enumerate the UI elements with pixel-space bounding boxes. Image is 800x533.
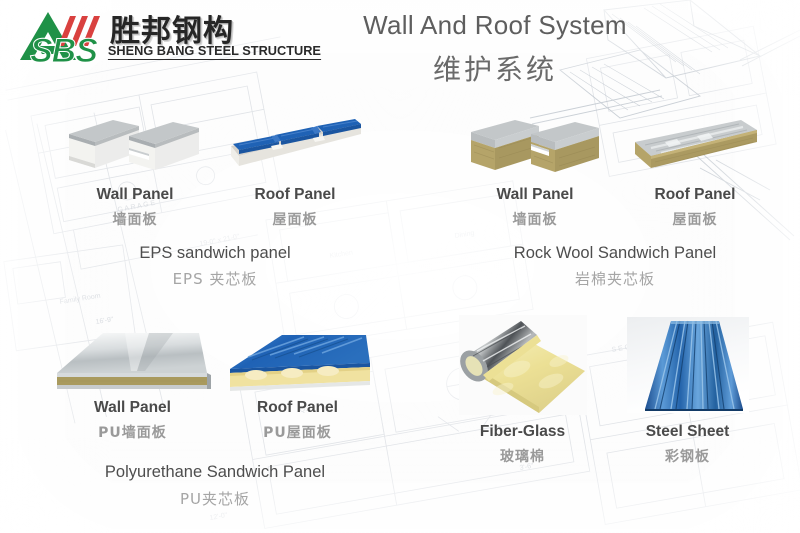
product-item-steel-sheet[interactable]: Steel Sheet 彩钢板	[605, 315, 770, 466]
product-item-eps-wall-panel[interactable]: Wall Panel 墙面板	[55, 112, 215, 229]
product-item-rockwool-roof-panel[interactable]: Roof Panel 屋面板	[615, 112, 775, 229]
product-label-cn: 玻璃棉	[440, 446, 605, 466]
product-label-cn: 屋面板	[215, 209, 375, 229]
product-item-eps-roof-panel[interactable]: Roof Panel 屋面板	[215, 112, 375, 229]
product-label-cn: PU墙面板	[50, 422, 215, 442]
eps-roof-panel-image	[225, 112, 365, 182]
product-group-eps: Wall Panel 墙面板	[55, 112, 375, 272]
fiber-glass-roll-image	[459, 315, 587, 415]
product-item-pu-wall-panel[interactable]: Wall Panel PU墙面板	[50, 325, 215, 442]
svg-text:12'-0": 12'-0"	[209, 512, 228, 522]
group-name-cn: 岩棉夹芯板	[455, 268, 775, 289]
group-name-en: EPS sandwich panel	[55, 244, 375, 263]
product-label-en: Wall Panel	[455, 186, 615, 204]
logo-mark-text: SBS	[30, 32, 97, 71]
pu-wall-panel-image	[53, 325, 213, 395]
group-name-cn: EPS 夹芯板	[55, 268, 375, 289]
group-name-cn: PU夹芯板	[50, 488, 380, 509]
product-label-cn: 墙面板	[455, 209, 615, 229]
rockwool-roof-panel-image	[625, 112, 765, 182]
slide-canvas: G A R A G E 19-0" x 21-0" Family Room 16…	[0, 0, 800, 533]
pu-roof-panel-image	[218, 325, 378, 395]
product-item-pu-roof-panel[interactable]: Roof Panel PU屋面板	[215, 325, 380, 442]
product-label-en: Wall Panel	[55, 186, 215, 204]
steel-sheet-image	[627, 315, 749, 415]
product-label-cn: 彩钢板	[605, 446, 770, 466]
product-label-en: Roof Panel	[215, 399, 380, 417]
rockwool-wall-panel-image	[465, 112, 605, 182]
group-name-en: Rock Wool Sandwich Panel	[455, 244, 775, 263]
company-logo[interactable]: SBS 胜邦钢构 SHENG BANG STEEL STRUCTURE	[14, 4, 276, 68]
product-group-materials: Fiber-Glass 玻璃棉	[440, 315, 770, 480]
product-item-rockwool-wall-panel[interactable]: Wall Panel 墙面板	[455, 112, 615, 229]
product-label-en: Wall Panel	[50, 399, 215, 417]
product-label-en: Steel Sheet	[605, 423, 770, 441]
product-label-cn: 墙面板	[55, 209, 215, 229]
logo-english-name: SHENG BANG STEEL STRUCTURE	[108, 44, 321, 60]
page-title-chinese: 维护系统	[330, 48, 660, 88]
product-item-fiber-glass[interactable]: Fiber-Glass 玻璃棉	[440, 315, 605, 466]
product-label-en: Fiber-Glass	[440, 423, 605, 441]
product-group-rockwool: Wall Panel 墙面板	[455, 112, 775, 272]
eps-wall-panel-image	[65, 112, 205, 182]
svg-text:Family Room: Family Room	[59, 293, 101, 306]
page-title-english: Wall And Roof System	[330, 10, 660, 41]
product-label-en: Roof Panel	[215, 186, 375, 204]
product-label-en: Roof Panel	[615, 186, 775, 204]
product-group-pu: Wall Panel PU墙面板	[50, 325, 380, 490]
group-name-en: Polyurethane Sandwich Panel	[50, 463, 380, 482]
product-label-cn: 屋面板	[615, 209, 775, 229]
product-label-cn: PU屋面板	[215, 422, 380, 442]
